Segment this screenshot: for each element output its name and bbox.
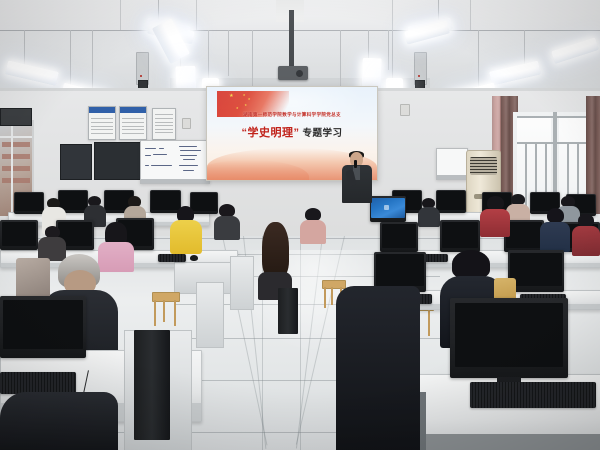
- desktop-monitor[interactable]: [504, 220, 544, 252]
- dark-display-panel: [94, 142, 144, 180]
- keyboard[interactable]: [158, 254, 186, 262]
- whiteboard-right: [436, 148, 468, 180]
- desktop-monitor[interactable]: [436, 190, 466, 213]
- attendee-long-hair-center: [258, 222, 292, 298]
- attendee-foreground-shoulder: [0, 392, 118, 450]
- pc-tower[interactable]: [278, 288, 298, 334]
- desktop-monitor[interactable]: [0, 296, 86, 358]
- attendee-center-back-2: [300, 208, 326, 242]
- mouse[interactable]: [190, 255, 198, 261]
- attendee-red-top: [480, 196, 510, 236]
- flag-star-icon: ★: [244, 103, 247, 108]
- ceiling-projector: [278, 66, 308, 80]
- ceiling-seam: [196, 0, 197, 30]
- ceiling-seam: [0, 30, 600, 31]
- projector-lens: [296, 70, 303, 77]
- keyboard[interactable]: [470, 382, 596, 408]
- attendee-center-back: [214, 204, 240, 238]
- lamp-rod: [478, 30, 479, 88]
- lamp-rod: [340, 30, 341, 88]
- desk-side-panel: [230, 256, 254, 310]
- notice-poster: [88, 106, 116, 140]
- desktop-monitor[interactable]: [508, 250, 564, 292]
- desktop-monitor[interactable]: [450, 298, 568, 378]
- ceiling-seam: [120, 0, 121, 30]
- flag-star-icon: ★: [243, 93, 246, 98]
- window-header-panel: [0, 108, 32, 126]
- ceiling-seam: [392, 0, 393, 30]
- slide-organization-line: 湖南第一师范学院数学与计算科学学院党总支: [207, 112, 377, 118]
- attendee-backrow-right: [418, 198, 440, 226]
- lamp-rod: [252, 30, 253, 88]
- whiteboard: [140, 140, 210, 184]
- dark-display-panel: [60, 144, 92, 180]
- desk-side-panel: [196, 282, 224, 348]
- keyboard[interactable]: [0, 372, 76, 394]
- microphone-icon: [354, 160, 357, 168]
- lamp-rod: [524, 30, 525, 68]
- lamp-rod: [388, 30, 389, 70]
- projector-mount-pole: [289, 10, 294, 68]
- notice-poster: [152, 108, 176, 140]
- wooden-stool[interactable]: [152, 292, 178, 326]
- attendee-foreground-right: [336, 286, 420, 450]
- lamp-rod: [70, 30, 71, 92]
- ceiling-seam: [470, 0, 471, 30]
- notice-poster: [119, 106, 147, 140]
- desktop-monitor[interactable]: [440, 220, 480, 252]
- pc-tower[interactable]: [134, 330, 170, 440]
- lamp-rod: [228, 30, 229, 76]
- desktop-monitor[interactable]: [14, 192, 44, 214]
- shoulder-bag: [16, 258, 50, 300]
- slide-theme-quote: “学史明理”: [241, 127, 299, 139]
- classroom-photo: ★ ★ ★ ★ ★ 湖南第一师范学院数学与计算科学学院党总支 “学史明理”专题学…: [0, 0, 600, 450]
- desktop-monitor[interactable]: [380, 222, 418, 252]
- wall-outlet-panel[interactable]: [182, 118, 191, 129]
- attendee-right-blue: [540, 208, 570, 250]
- lamp-rod: [392, 30, 393, 82]
- attendee-right-red-sleeve: [572, 214, 600, 254]
- wall-outlet-panel[interactable]: [400, 104, 410, 116]
- presenter-with-microphone: [338, 152, 376, 208]
- lamp-rod: [92, 30, 93, 88]
- lamp-rod: [208, 30, 209, 82]
- desktop-monitor[interactable]: [0, 220, 38, 250]
- slide-theme-suffix: 专题学习: [302, 128, 342, 139]
- flag-star-icon: ★: [236, 106, 239, 111]
- slide-theme-title: “学史明理”专题学习: [207, 123, 377, 141]
- ceiling: [0, 0, 600, 96]
- attendee-yellow-jacket: [170, 206, 202, 252]
- flag-star-icon: ★: [248, 97, 251, 102]
- flag-star-icon: ★: [229, 94, 233, 99]
- lamp-rod: [24, 30, 25, 68]
